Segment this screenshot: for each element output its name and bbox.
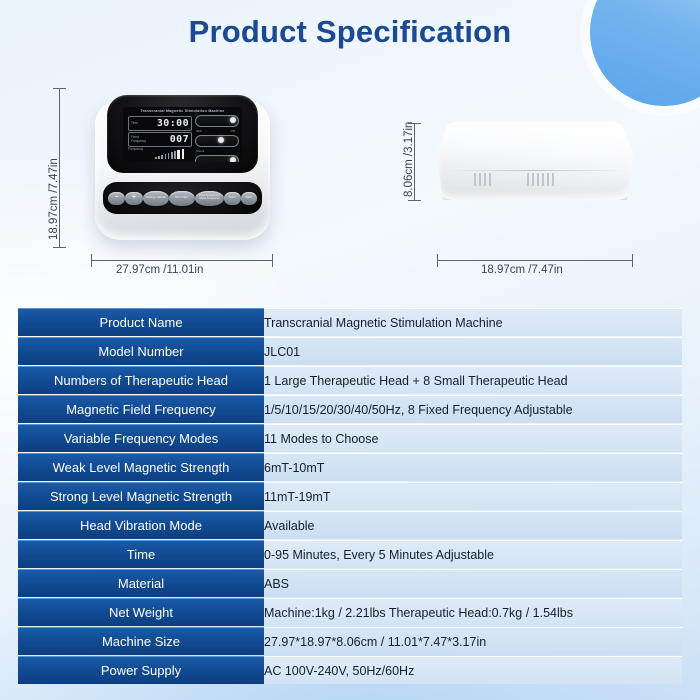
front-width-cap-right	[272, 254, 273, 267]
page-title: Product Specification	[0, 14, 700, 50]
spec-key: Power Supply	[18, 656, 264, 684]
spec-key: Variable Frequency Modes	[18, 424, 264, 452]
spec-value: 1/5/10/15/20/30/40/50Hz, 8 Fixed Frequen…	[264, 395, 682, 423]
lcd-toggle-power-on-label: ON	[231, 129, 236, 133]
spec-value: AC 100V-240V, 50Hz/60Hz	[264, 656, 682, 684]
spec-value: ABS	[264, 569, 682, 597]
device-side-seam	[445, 170, 627, 171]
table-row: Magnetic Field Frequency1/5/10/15/20/30/…	[18, 395, 682, 423]
device-side-body	[437, 122, 633, 200]
front-width-label: 27.97cm /11.01in	[116, 264, 203, 276]
lcd-frequency-bars	[155, 148, 184, 159]
lcd-time-value: 30:00	[151, 118, 191, 129]
lcd-frequency-label: Fixed Frequency	[129, 136, 151, 143]
side-width-dimension-line	[437, 260, 633, 261]
spec-key: Time	[18, 540, 264, 568]
lcd-toggle-power-off-label: OFF	[196, 129, 202, 133]
spec-key: Head Vibration Mode	[18, 511, 264, 539]
spec-key: Material	[18, 569, 264, 597]
lcd-toggle-group: OFF ON Shock Weak Strong	[195, 115, 239, 162]
spec-value: 6mT-10mT	[264, 453, 682, 481]
spec-key: Strong Level Magnetic Strength	[18, 482, 264, 510]
front-height-cap-top	[53, 88, 66, 89]
lcd-title: Transcranial Magnetic Stimulation Machin…	[123, 109, 242, 113]
table-row: Machine Size27.97*18.97*8.06cm / 11.01*7…	[18, 627, 682, 655]
lcd-frequency-row: Fixed Frequency 007	[128, 132, 192, 147]
front-height-cap-bottom	[53, 247, 66, 248]
specification-table-body: Product NameTranscranial Magnetic Stimul…	[18, 308, 682, 684]
device-back-button[interactable]: Back	[241, 192, 257, 205]
device-side-view	[437, 122, 633, 200]
device-frequency-mode-button[interactable]: Fixed Frequency / Mode Frequency	[195, 191, 225, 206]
table-row: Product NameTranscranial Magnetic Stimul…	[18, 308, 682, 336]
table-row: Weak Level Magnetic Strength6mT-10mT	[18, 453, 682, 481]
device-plus-button[interactable]: +	[125, 192, 142, 205]
device-save-button[interactable]: Save	[224, 192, 240, 205]
table-row: Time0-95 Minutes, Every 5 Minutes Adjust…	[18, 540, 682, 568]
device-front-panel: Transcranial Magnetic Stimulation Machin…	[107, 95, 258, 173]
table-row: Power SupplyAC 100V-240V, 50Hz/60Hz	[18, 656, 682, 684]
lcd-toggle-shock	[195, 135, 239, 147]
device-front-view: Transcranial Magnetic Stimulation Machin…	[95, 92, 270, 244]
device-vent-right	[527, 173, 554, 186]
spec-value: 1 Large Therapeutic Head + 8 Small Thera…	[264, 366, 682, 394]
spec-key: Model Number	[18, 337, 264, 365]
spec-value: JLC01	[264, 337, 682, 365]
spec-value: Transcranial Magnetic Stimulation Machin…	[264, 308, 682, 336]
front-width-dimension-line	[91, 260, 273, 261]
side-width-cap-right	[632, 254, 633, 267]
spec-value: Available	[264, 511, 682, 539]
lcd-toggle-strength	[195, 155, 239, 162]
spec-key: Magnetic Field Frequency	[18, 395, 264, 423]
device-vent-left	[474, 173, 491, 186]
lcd-toggle-shock-label: Shock	[196, 149, 204, 153]
device-on-off-button[interactable]: ON / OFF	[169, 191, 195, 206]
spec-key: Numbers of Therapeutic Head	[18, 366, 264, 394]
spec-value: Machine:1kg / 2.21lbs Therapeutic Head:0…	[264, 598, 682, 626]
device-minus-button[interactable]: −	[108, 192, 125, 205]
lcd-frequency-scale-label: Frequency	[128, 148, 143, 152]
front-height-label: 18.97cm /7.47in	[48, 158, 60, 240]
spec-value: 0-95 Minutes, Every 5 Minutes Adjustable	[264, 540, 682, 568]
side-width-cap-left	[437, 254, 438, 267]
product-diagram: 18.97cm /7.47in 27.97cm /11.01in Transcr…	[0, 80, 700, 295]
device-strong-weak-button[interactable]: Strong / Weak	[143, 191, 169, 206]
spec-key: Weak Level Magnetic Strength	[18, 453, 264, 481]
spec-key: Product Name	[18, 308, 264, 336]
table-row: Numbers of Therapeutic Head1 Large Thera…	[18, 366, 682, 394]
lcd-screen: Transcranial Magnetic Stimulation Machin…	[123, 107, 242, 162]
lcd-time-row: Time 30:00	[128, 116, 192, 131]
table-row: Variable Frequency Modes11 Modes to Choo…	[18, 424, 682, 452]
table-row: Head Vibration ModeAvailable	[18, 511, 682, 539]
spec-value: 11 Modes to Choose	[264, 424, 682, 452]
front-width-cap-left	[91, 254, 92, 267]
device-button-bar: − + Strong / Weak ON / OFF Fixed Frequen…	[103, 182, 262, 214]
side-height-cap-bottom	[408, 200, 421, 201]
side-height-label: 8.06cm /3.17in	[403, 122, 415, 197]
table-row: Net WeightMachine:1kg / 2.21lbs Therapeu…	[18, 598, 682, 626]
lcd-frequency-value: 007	[151, 134, 191, 145]
spec-key: Net Weight	[18, 598, 264, 626]
spec-value: 11mT-19mT	[264, 482, 682, 510]
table-row: MaterialABS	[18, 569, 682, 597]
table-row: Strong Level Magnetic Strength11mT-19mT	[18, 482, 682, 510]
lcd-time-label: Time	[129, 122, 151, 126]
spec-value: 27.97*18.97*8.06cm / 11.01*7.47*3.17in	[264, 627, 682, 655]
lcd-toggle-power	[195, 115, 239, 127]
spec-key: Machine Size	[18, 627, 264, 655]
side-width-label: 18.97cm /7.47in	[481, 264, 563, 276]
specification-table: Product NameTranscranial Magnetic Stimul…	[18, 307, 682, 685]
table-row: Model NumberJLC01	[18, 337, 682, 365]
